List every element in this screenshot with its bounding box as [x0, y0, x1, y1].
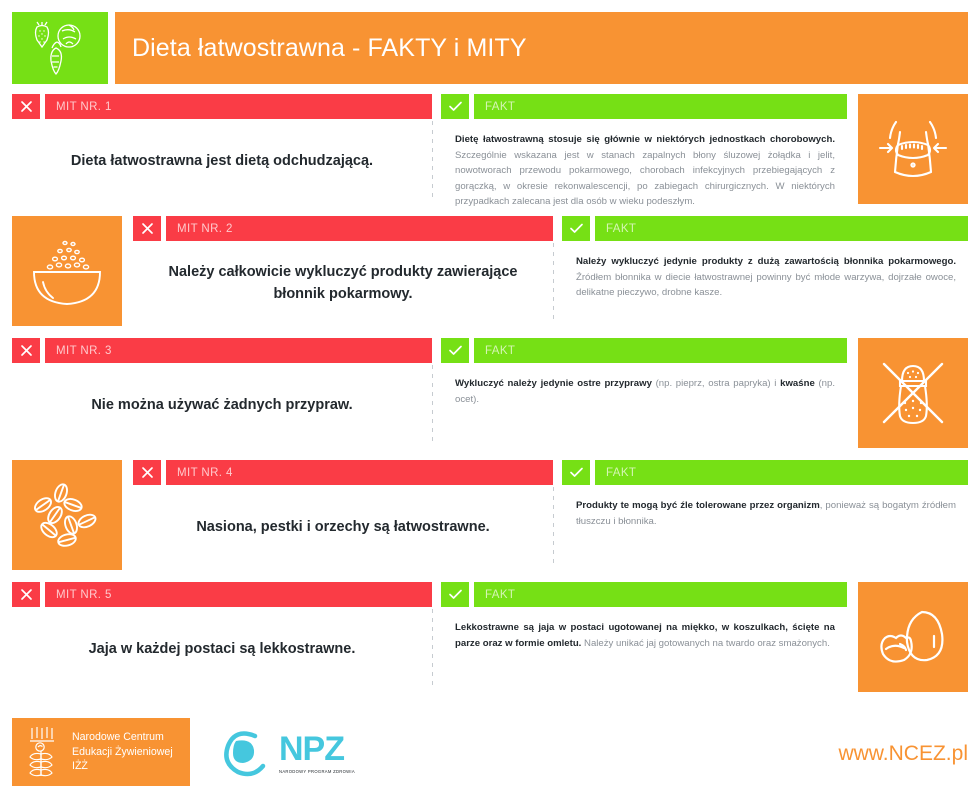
myth-statement: Nie można używać żadnych przypraw.	[12, 363, 432, 448]
salt-shaker-crossed-out-icon	[873, 353, 953, 433]
fact-panel: FAKT Produkty te mogą być źle tolerowane…	[562, 460, 968, 570]
ncez-logo-text: Narodowe Centrum Edukacji Żywieniowej IŻ…	[72, 730, 173, 773]
fact-label: FAKT	[474, 338, 847, 363]
myth-panel: MIT NR. 1 Dieta łatwostrawna jest dietą …	[12, 94, 432, 204]
header: Dieta łatwostrawna - FAKTY i MITY	[12, 12, 968, 84]
fact-badge: FAKT	[441, 94, 847, 119]
check-icon	[441, 338, 469, 363]
check-icon	[441, 582, 469, 607]
fact-panel: FAKT Lekkostrawne są jaja w postaci ugot…	[441, 582, 847, 692]
eggs-icon	[872, 600, 954, 674]
fact-description: Dietę łatwostrawną stosuje się głównie w…	[441, 119, 847, 204]
myth-badge: MIT NR. 3	[12, 338, 432, 363]
npz-subtitle: NARODOWY PROGRAM ZDROWIA	[279, 769, 355, 774]
ncez-logo: Narodowe Centrum Edukacji Żywieniowej IŻ…	[12, 718, 190, 786]
myth-panel: MIT NR. 5 Jaja w każdej postaci są lekko…	[12, 582, 432, 692]
npz-swirl-icon	[219, 728, 271, 778]
row-illustration	[12, 460, 122, 570]
fact-label: FAKT	[595, 216, 968, 241]
myth-fact-row: MIT NR. 2 Należy całkowicie wykluczyć pr…	[12, 216, 968, 326]
myth-label: MIT NR. 2	[166, 216, 553, 241]
page-title: Dieta łatwostrawna - FAKTY i MITY	[115, 34, 527, 63]
row-illustration	[12, 216, 122, 326]
myth-label: MIT NR. 4	[166, 460, 553, 485]
myth-label: MIT NR. 5	[45, 582, 432, 607]
waist-measuring-tape-icon	[874, 110, 952, 188]
fact-description: Lekkostrawne są jaja w postaci ugotowane…	[441, 607, 847, 692]
myth-statement: Nasiona, pestki i orzechy są łatwostrawn…	[133, 485, 553, 570]
fact-description: Wykluczyć należy jedynie ostre przyprawy…	[441, 363, 847, 448]
myth-statement: Należy całkowicie wykluczyć produkty zaw…	[133, 241, 553, 326]
myth-badge: MIT NR. 1	[12, 94, 432, 119]
myth-fact-row: MIT NR. 4 Nasiona, pestki i orzechy są ł…	[12, 460, 968, 570]
fact-label: FAKT	[474, 582, 847, 607]
myth-badge: MIT NR. 2	[133, 216, 553, 241]
infographic-page: Dieta łatwostrawna - FAKTY i MITY	[0, 0, 980, 802]
cross-icon	[133, 460, 161, 485]
npz-logo: NPZ NARODOWY PROGRAM ZDROWIA	[219, 728, 355, 778]
myth-fact-row: MIT NR. 1 Dieta łatwostrawna jest dietą …	[12, 94, 968, 204]
myth-statement: Jaja w każdej postaci są lekkostrawne.	[12, 607, 432, 692]
myth-panel: MIT NR. 3 Nie można używać żadnych przyp…	[12, 338, 432, 448]
fact-badge: FAKT	[441, 338, 847, 363]
footer: Narodowe Centrum Edukacji Żywieniowej IŻ…	[12, 718, 968, 790]
seeds-nuts-icon	[25, 475, 109, 555]
fact-panel: FAKT Należy wykluczyć jedynie produkty z…	[562, 216, 968, 326]
check-icon	[562, 460, 590, 485]
bowl-with-grains-icon	[26, 232, 108, 310]
fact-panel: FAKT Wykluczyć należy jedynie ostre przy…	[441, 338, 847, 448]
myth-label: MIT NR. 1	[45, 94, 432, 119]
myth-badge: MIT NR. 4	[133, 460, 553, 485]
website-url[interactable]: www.NCEZ.pl	[838, 742, 968, 766]
fact-panel: FAKT Dietę łatwostrawną stosuje się głów…	[441, 94, 847, 204]
row-illustration	[858, 338, 968, 448]
cross-icon	[12, 582, 40, 607]
fact-badge: FAKT	[562, 216, 968, 241]
myth-fact-row: MIT NR. 3 Nie można używać żadnych przyp…	[12, 338, 968, 448]
check-icon	[441, 94, 469, 119]
cross-icon	[133, 216, 161, 241]
myth-badge: MIT NR. 5	[12, 582, 432, 607]
fact-label: FAKT	[595, 460, 968, 485]
fact-label: FAKT	[474, 94, 847, 119]
fact-description: Należy wykluczyć jedynie produkty z dużą…	[562, 241, 968, 326]
fact-badge: FAKT	[441, 582, 847, 607]
cross-icon	[12, 338, 40, 363]
header-icon-box	[12, 12, 108, 84]
myth-fact-row: MIT NR. 5 Jaja w każdej postaci są lekko…	[12, 582, 968, 692]
fact-description: Produkty te mogą być źle tolerowane prze…	[562, 485, 968, 570]
fruits-vegetables-icon	[29, 20, 91, 76]
myth-panel: MIT NR. 2 Należy całkowicie wykluczyć pr…	[133, 216, 553, 326]
myth-statement: Dieta łatwostrawna jest dietą odchudzają…	[12, 119, 432, 204]
myth-panel: MIT NR. 4 Nasiona, pestki i orzechy są ł…	[133, 460, 553, 570]
npz-wordmark: NPZ	[279, 732, 355, 766]
wheat-plant-icon	[22, 726, 64, 778]
myth-label: MIT NR. 3	[45, 338, 432, 363]
cross-icon	[12, 94, 40, 119]
row-illustration	[858, 94, 968, 204]
header-title-bar: Dieta łatwostrawna - FAKTY i MITY	[115, 12, 968, 84]
fact-badge: FAKT	[562, 460, 968, 485]
row-illustration	[858, 582, 968, 692]
check-icon	[562, 216, 590, 241]
